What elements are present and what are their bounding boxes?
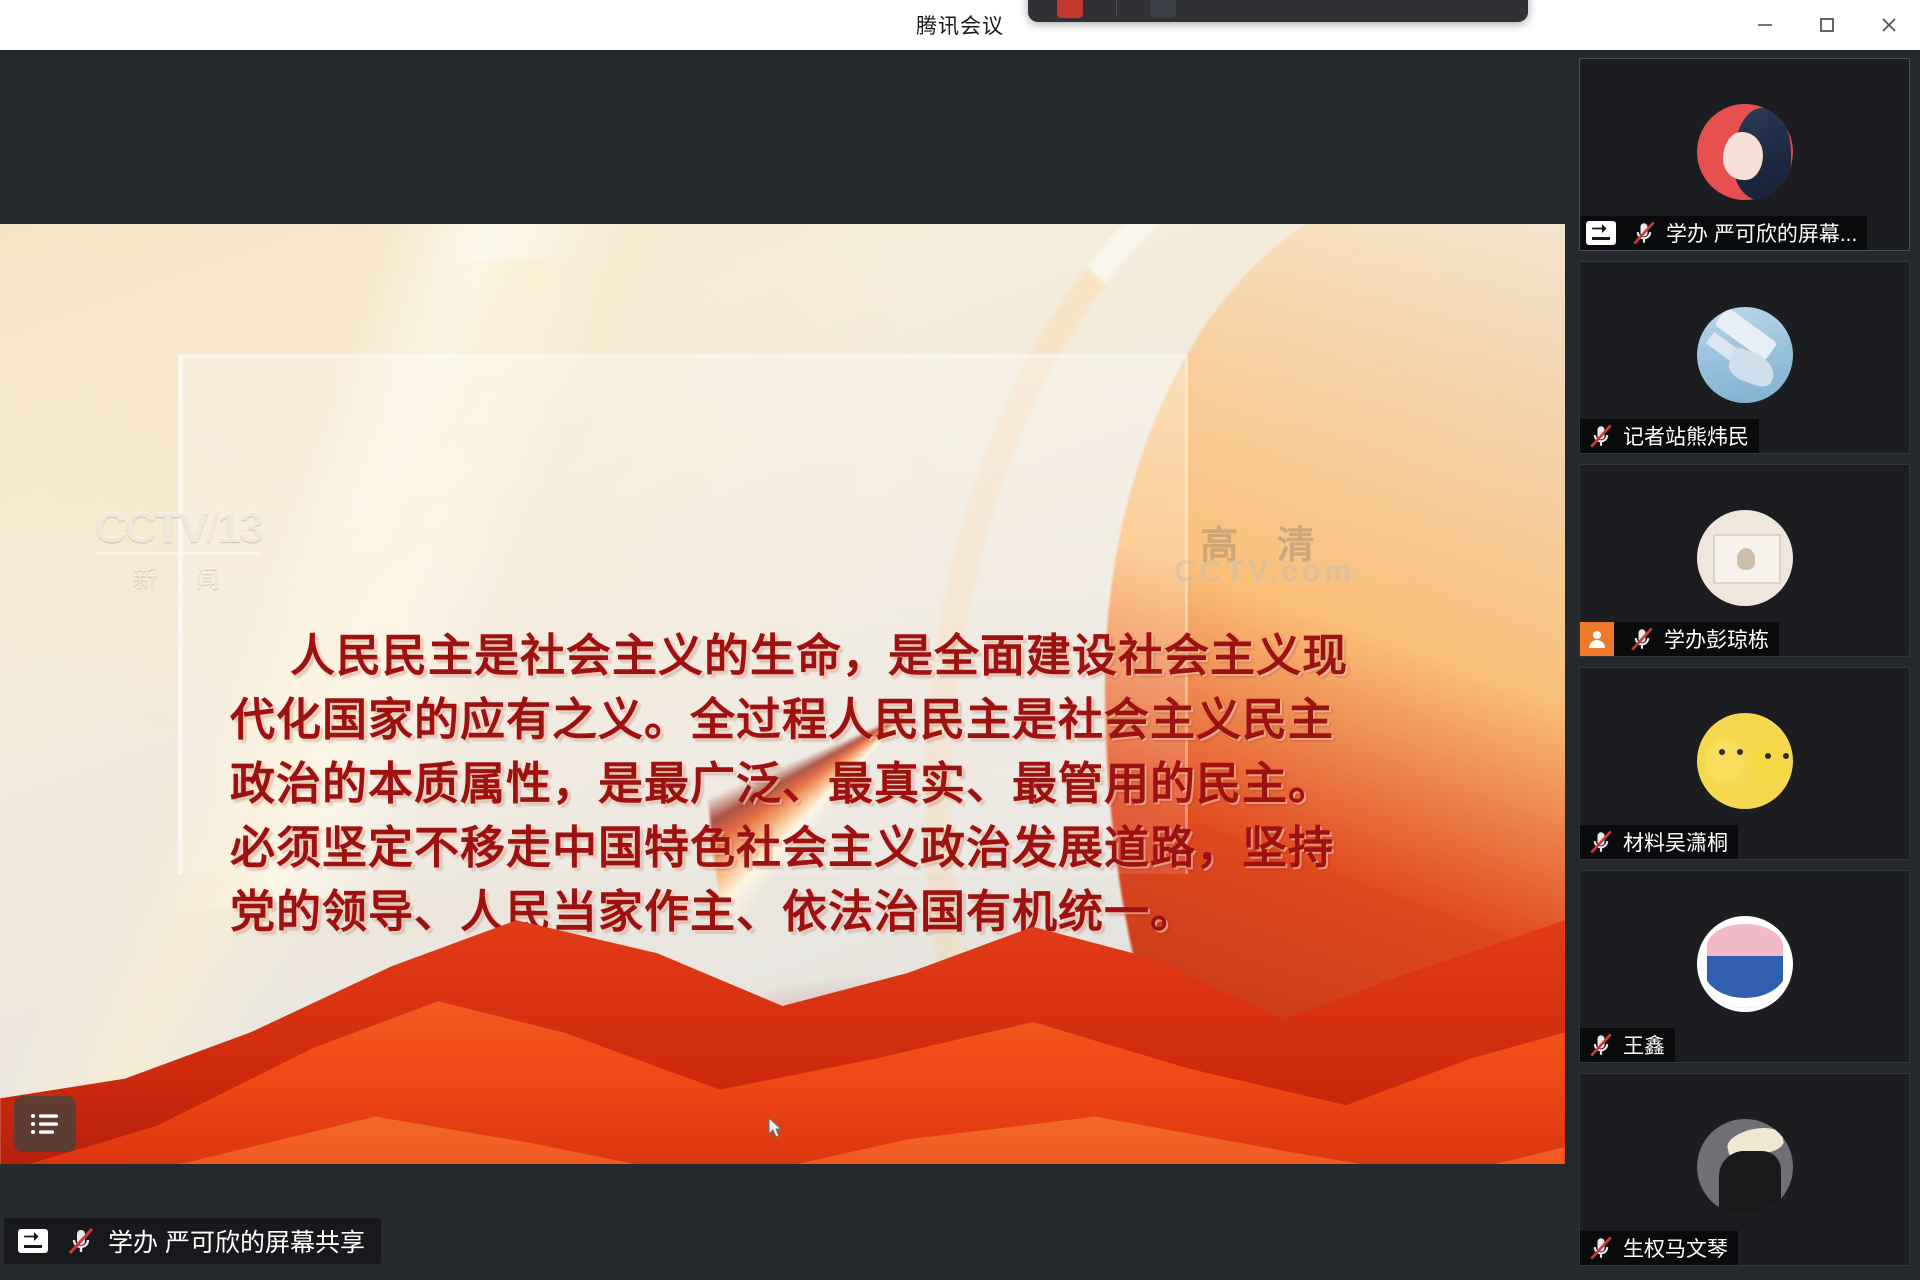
avatar xyxy=(1697,1119,1793,1215)
shared-screen-video[interactable]: CCTV/13 新 闻 高 清 CCTV.com 人民民主是社会主义的生命，是全… xyxy=(0,224,1565,1164)
participant-name: 生权马文琴 xyxy=(1623,1233,1728,1263)
screen-share-icon xyxy=(1586,221,1616,245)
mic-muted-icon xyxy=(1586,1030,1616,1060)
window-controls xyxy=(1734,0,1920,50)
toolbar-record-item[interactable] xyxy=(1042,0,1098,18)
participant-tile-4[interactable]: 王鑫 xyxy=(1579,870,1910,1063)
person-icon xyxy=(1586,628,1608,650)
mic-muted-icon xyxy=(1627,624,1657,654)
participant-name: 学办彭琼栋 xyxy=(1664,624,1769,654)
mic-muted-icon xyxy=(1629,218,1659,248)
app-root: 腾讯会议 xyxy=(0,0,1920,1280)
participant-tile-2[interactable]: 学办彭琼栋 xyxy=(1579,464,1910,657)
participant-tile-1[interactable]: 记者站熊炜民 xyxy=(1579,261,1910,454)
share-status-bar: 学办 严可欣的屏幕共享 xyxy=(4,1218,381,1264)
avatar xyxy=(1697,307,1793,403)
minimize-button[interactable] xyxy=(1734,0,1796,50)
mic-muted-icon xyxy=(64,1224,98,1258)
close-icon xyxy=(1878,14,1900,36)
share-stage: CCTV/13 新 闻 高 清 CCTV.com 人民民主是社会主义的生命，是全… xyxy=(0,50,1565,1280)
participant-name: 学办 严可欣的屏幕... xyxy=(1666,218,1857,248)
layout-list-button[interactable] xyxy=(14,1096,76,1152)
mic-muted-icon xyxy=(1586,421,1616,451)
broadcast-headline: 人民民主是社会主义的生命，是全面建设社会主义现代化国家的应有之义。全过程人民民主… xyxy=(230,624,1350,943)
minimize-icon xyxy=(1754,14,1776,36)
stop-share-icon xyxy=(1150,0,1176,18)
avatar xyxy=(1697,510,1793,606)
participant-tile-3[interactable]: 材料吴潇桐 xyxy=(1579,667,1910,860)
participant-namebar-3: 材料吴潇桐 xyxy=(1580,825,1738,859)
participant-namebar-4: 王鑫 xyxy=(1580,1028,1675,1062)
avatar xyxy=(1697,713,1793,809)
meeting-body: CCTV/13 新 闻 高 清 CCTV.com 人民民主是社会主义的生命，是全… xyxy=(0,50,1920,1280)
mic-muted-icon xyxy=(1586,827,1616,857)
record-icon xyxy=(1057,0,1083,18)
participant-name: 王鑫 xyxy=(1623,1030,1665,1060)
toolbar-divider xyxy=(1116,0,1117,16)
toolbar-stop-share-item[interactable] xyxy=(1135,0,1191,18)
mouse-cursor xyxy=(768,1117,784,1139)
participant-namebar-0: 学办 严可欣的屏幕... xyxy=(1580,216,1867,250)
floating-meeting-toolbar[interactable] xyxy=(1028,0,1528,22)
participant-namebar-1: 记者站熊炜民 xyxy=(1580,419,1759,453)
participant-name: 材料吴潇桐 xyxy=(1623,827,1728,857)
share-status-label: 学办 严可欣的屏幕共享 xyxy=(108,1223,365,1259)
participant-roster[interactable]: 学办 严可欣的屏幕... 记者站熊炜民 xyxy=(1565,50,1920,1280)
participant-tile-0[interactable]: 学办 严可欣的屏幕... xyxy=(1579,58,1910,251)
participant-namebar-5: 生权马文琴 xyxy=(1580,1231,1738,1265)
mic-muted-icon xyxy=(1586,1233,1616,1263)
screen-share-icon xyxy=(18,1229,48,1253)
participant-tile-5[interactable]: 生权马文琴 xyxy=(1579,1073,1910,1266)
list-icon xyxy=(30,1112,60,1136)
host-badge xyxy=(1580,622,1614,656)
maximize-button[interactable] xyxy=(1796,0,1858,50)
page-title: 腾讯会议 xyxy=(916,10,1004,40)
avatar xyxy=(1697,916,1793,1012)
participant-namebar-2: 学办彭琼栋 xyxy=(1580,622,1779,656)
close-button[interactable] xyxy=(1858,0,1920,50)
window-titlebar: 腾讯会议 xyxy=(0,0,1920,50)
avatar xyxy=(1697,104,1793,200)
participant-name: 记者站熊炜民 xyxy=(1623,421,1749,451)
maximize-icon xyxy=(1816,14,1838,36)
